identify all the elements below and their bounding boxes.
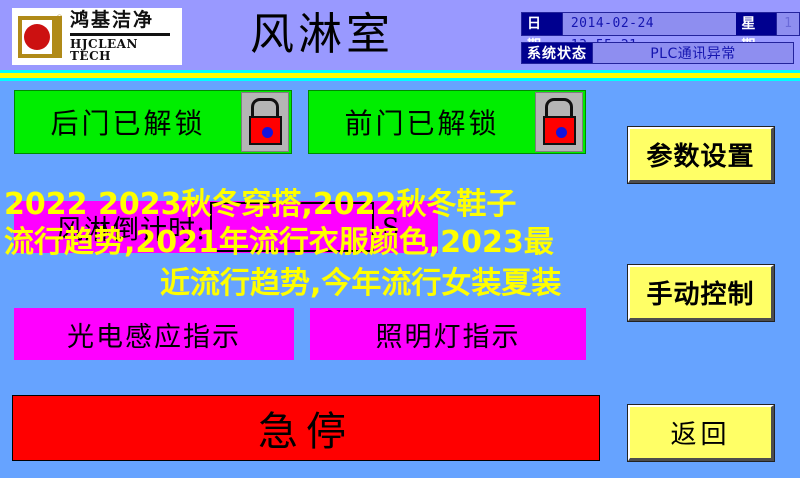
system-status-label: 系统状态 — [522, 43, 592, 63]
photo-sensor-indicator[interactable]: 光电感应指示 — [14, 308, 294, 360]
padlock-body-shape — [543, 116, 576, 145]
emergency-stop-button[interactable]: 急停 — [12, 395, 600, 461]
logo-mark-icon: ® — [18, 16, 62, 58]
front-door-status-button[interactable]: 前门已解锁 — [308, 90, 586, 154]
countdown-value-field[interactable] — [210, 202, 374, 252]
padlock-keyhole-shape — [262, 127, 273, 138]
divider-cyan-bottom — [0, 78, 800, 81]
padlock-keyhole-shape — [556, 127, 567, 138]
logo-divider-rule — [70, 33, 170, 36]
date-label: 日期 — [522, 13, 562, 35]
weekday-value: 1 — [776, 13, 799, 35]
logo-text-block: 鸿基洁净 HJCLEAN TECH — [70, 11, 182, 62]
page-title: 风淋室 — [250, 4, 394, 66]
parameter-settings-button[interactable]: 参数设置 — [628, 127, 774, 183]
date-time-panel: 日期 2014-02-24 13:55:21 星期 1 — [521, 12, 800, 36]
lighting-lamp-indicator[interactable]: 照明灯指示 — [310, 308, 586, 360]
watermark-line-3: 近流行趋势,今年流行女装夏装 — [160, 264, 561, 304]
manual-control-button[interactable]: 手动控制 — [628, 265, 774, 321]
registered-mark-icon: ® — [56, 14, 63, 22]
front-door-unlocked-padlock-icon — [535, 92, 583, 152]
logo-chinese-name: 鸿基洁净 — [70, 11, 182, 30]
back-button[interactable]: 返回 — [628, 405, 774, 461]
air-shower-countdown-bar: 风淋倒计时: S — [14, 201, 438, 253]
front-door-label: 前门已解锁 — [309, 102, 535, 142]
back-door-label: 后门已解锁 — [15, 102, 241, 142]
countdown-label: 风淋倒计时: — [56, 208, 206, 247]
company-logo: ® 鸿基洁净 HJCLEAN TECH — [12, 8, 182, 65]
countdown-unit-label: S — [382, 213, 399, 242]
back-door-unlocked-padlock-icon — [241, 92, 289, 152]
padlock-body-shape — [249, 116, 282, 145]
system-status-panel: 系统状态 PLC通讯异常 — [521, 42, 794, 64]
logo-circle-shape — [24, 24, 50, 50]
logo-english-name: HJCLEAN TECH — [70, 38, 182, 62]
header-bar: ® 鸿基洁净 HJCLEAN TECH 风淋室 日期 2014-02-24 13… — [0, 0, 800, 70]
weekday-label: 星期 — [736, 13, 776, 35]
system-status-value: PLC通讯异常 — [592, 43, 793, 63]
hmi-screen: ® 鸿基洁净 HJCLEAN TECH 风淋室 日期 2014-02-24 13… — [0, 0, 800, 478]
date-time-value: 2014-02-24 13:55:21 — [562, 13, 736, 35]
back-door-status-button[interactable]: 后门已解锁 — [14, 90, 292, 154]
